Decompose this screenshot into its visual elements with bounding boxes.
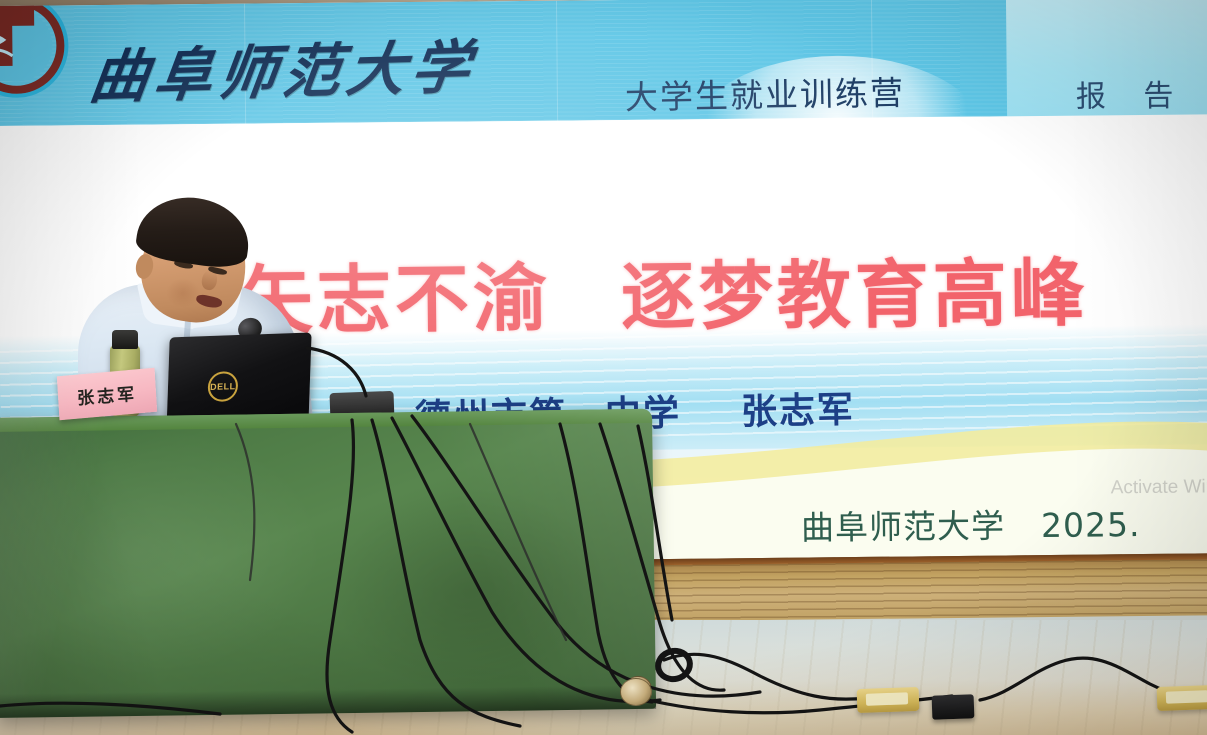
subtitle-speaker-name: 张志军 [741, 390, 856, 433]
employment-camp-title: 大学生就业训练营 [624, 66, 905, 119]
main-title-part2: 逐梦教育高峰 [620, 251, 1089, 341]
subtitle-spacer [681, 424, 741, 425]
tablecloth-folds [0, 409, 656, 718]
slide-footer: 曲阜师范大学2025. [801, 498, 1141, 549]
dell-logo-icon: DELL [207, 371, 238, 402]
table-caster-wheel-floor [620, 678, 652, 706]
footer-date: 2025. [1041, 505, 1141, 545]
slide-main-title: 矢志不渝逐梦教育高峰 [238, 234, 1089, 349]
water-bottle-cap [112, 330, 138, 349]
report-label: 报 告 [1076, 71, 1188, 116]
footer-organization: 曲阜师范大学 [801, 506, 1005, 547]
presenter-cheek-shading [166, 278, 200, 308]
university-emblem-icon [0, 0, 71, 100]
green-covered-table [0, 409, 656, 718]
university-name-calligraphy: 曲阜师范大学 [86, 20, 482, 114]
speaker-nameplate: 张志军 [57, 368, 157, 420]
title-spacer [551, 323, 621, 324]
activate-windows-watermark: Activate Windows [1111, 476, 1207, 499]
nameplate-text: 张志军 [76, 379, 137, 409]
yellow-power-strip-2 [1157, 685, 1207, 711]
presentation-photo-scene: 曲阜师范大学 大学生就业训练营 报 告 矢志不渝逐梦教育高峰 德州市第一中学张志… [0, 0, 1207, 735]
black-power-adapter [932, 694, 975, 719]
yellow-power-strip-1 [857, 687, 920, 713]
